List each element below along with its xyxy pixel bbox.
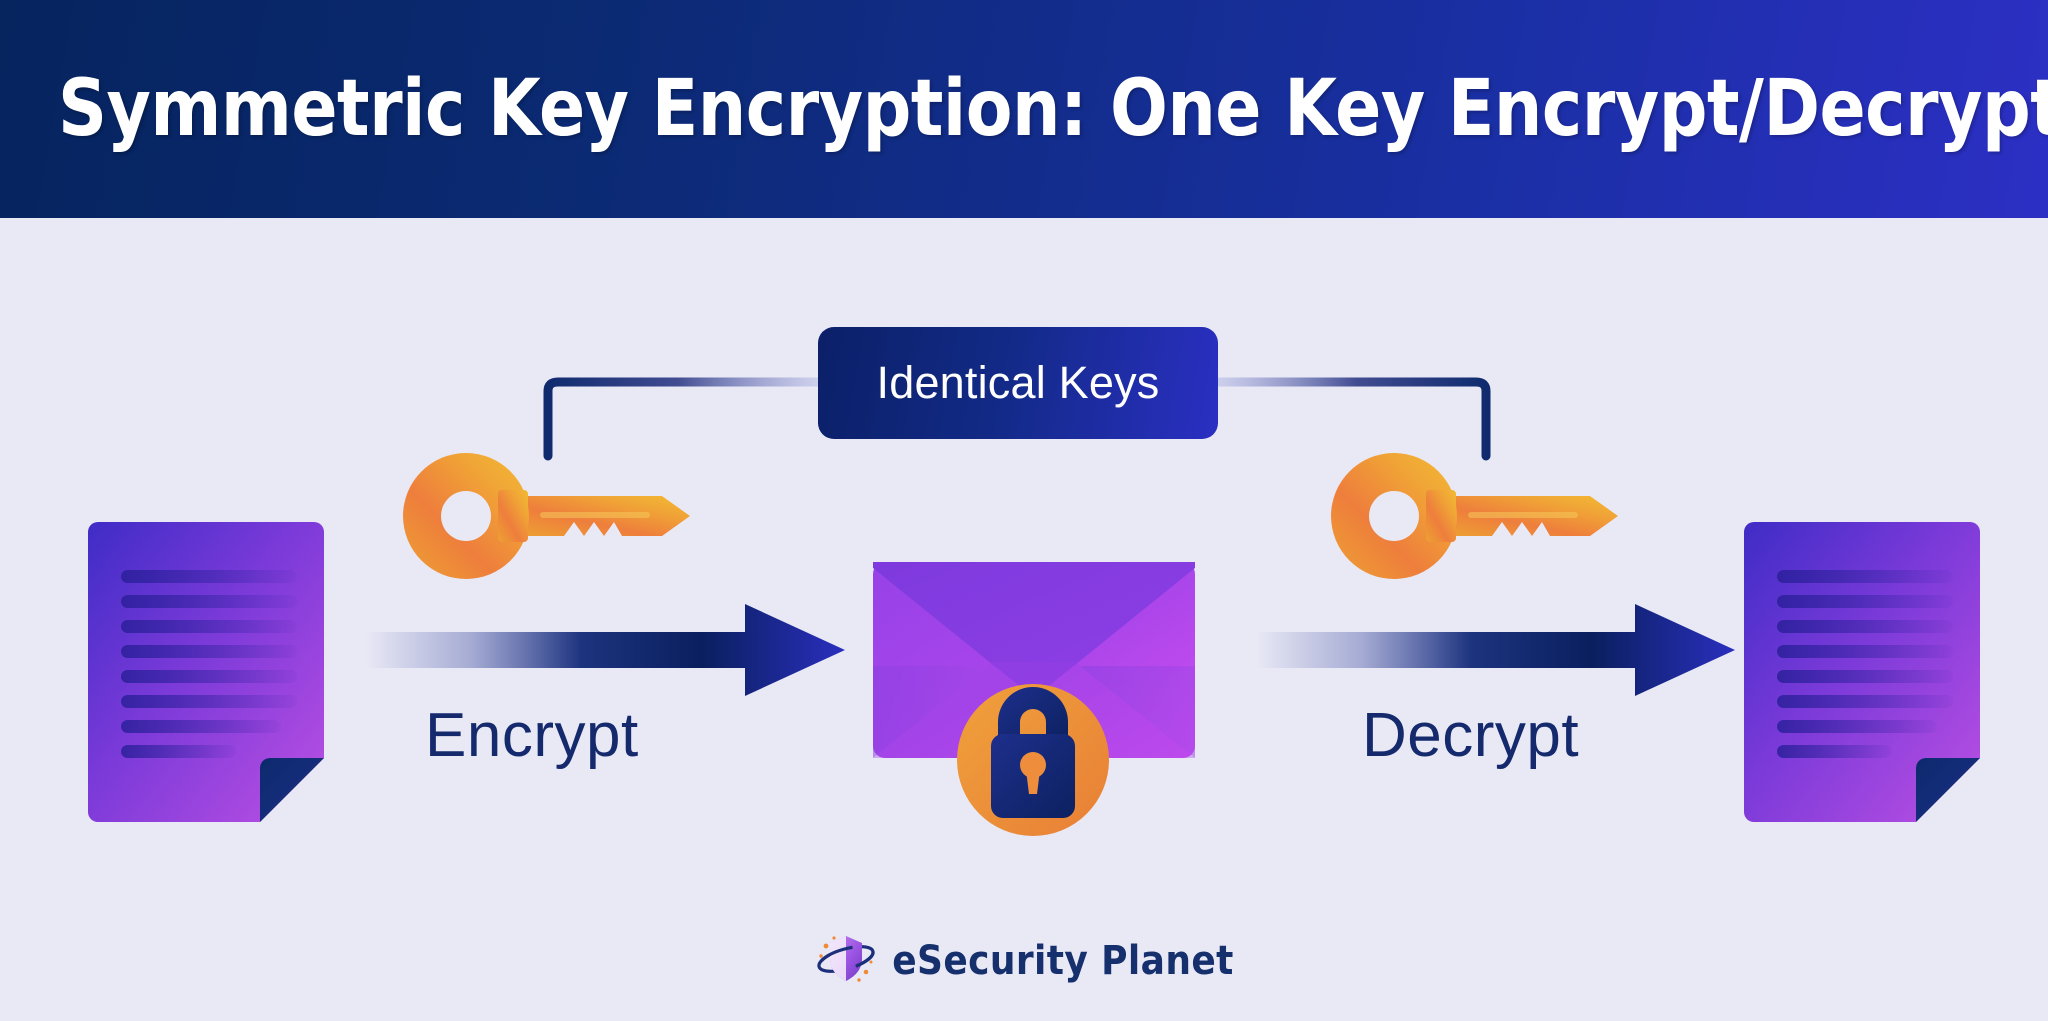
encrypted-message-envelope [873,562,1195,838]
decrypt-label: Decrypt [1362,700,1579,771]
encrypt-label: Encrypt [425,700,639,771]
identical-keys-label: Identical Keys [877,357,1160,409]
decrypted-document [1744,522,1980,822]
decrypt-arrow [1255,600,1735,705]
identical-keys-badge: Identical Keys [818,327,1218,439]
esecurity-planet-logo-icon [814,928,878,995]
decryption-key-icon [1318,450,1628,585]
header-banner: Symmetric Key Encryption: One Key Encryp… [0,0,2048,218]
brand-footer: eSecurity Planet [0,918,2048,1004]
page-title: Symmetric Key Encryption: One Key Encryp… [58,64,2048,154]
encrypt-arrow [365,600,845,705]
plaintext-document [88,522,324,822]
brand-name: eSecurity Planet [892,938,1234,984]
encryption-key-icon [390,450,700,585]
diagram-canvas: Symmetric Key Encryption: One Key Encryp… [0,0,2048,1021]
